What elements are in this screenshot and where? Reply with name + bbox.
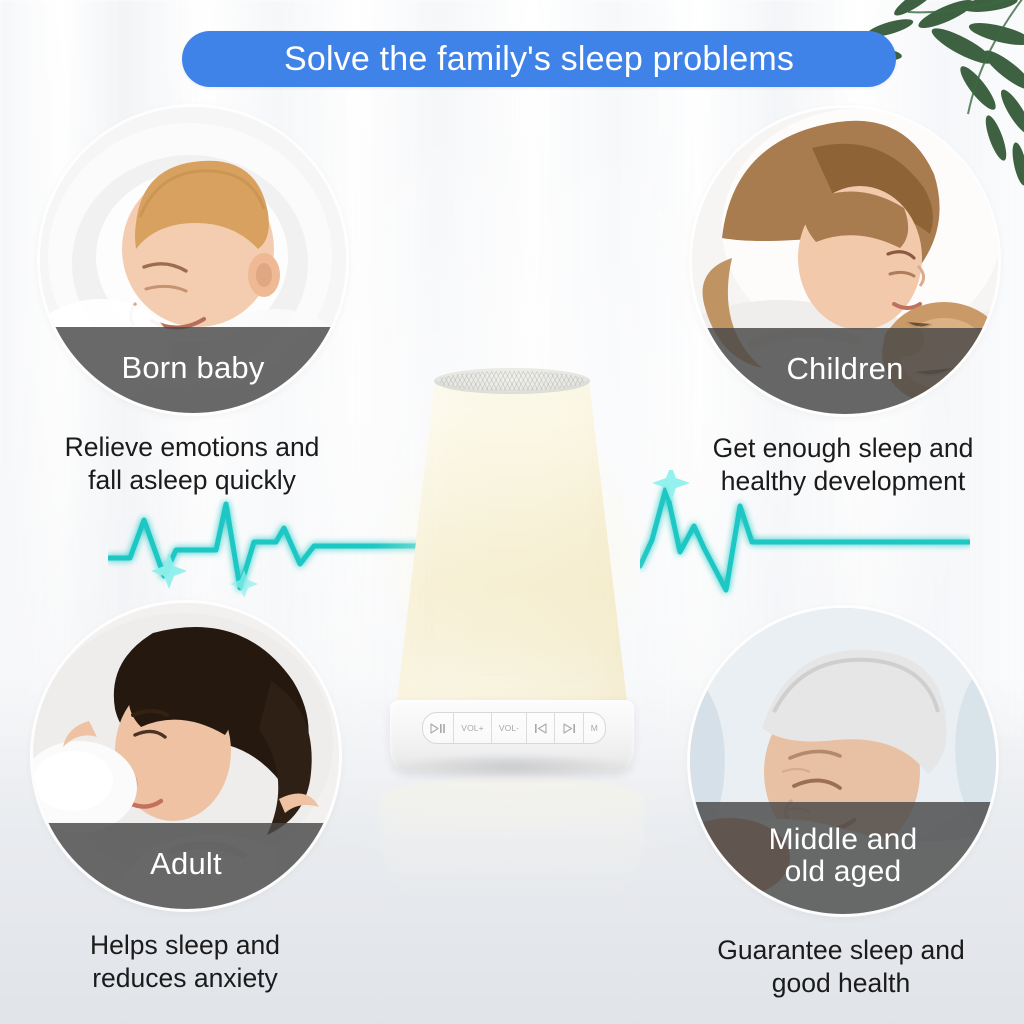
benefit-photo-born-baby: Born baby	[40, 107, 346, 413]
benefit-photo-children: Children	[692, 108, 998, 414]
speaker-grille-icon	[438, 371, 586, 391]
benefit-label-children: Children	[692, 328, 998, 414]
benefit-caption-born-baby: Relieve emotions and fall asleep quickly	[26, 431, 358, 497]
benefit-caption-middle-old-aged: Guarantee sleep and good health	[676, 934, 1006, 1000]
benefit-adult: Adult Helps sleep and reduces anxiety	[33, 603, 339, 995]
volume-down-button[interactable]: VOL-	[492, 713, 527, 743]
product-infographic: Solve the family's sleep problems	[0, 0, 1024, 1024]
benefit-label-adult: Adult	[33, 823, 339, 909]
benefit-children: Children Get enough sleep and healthy de…	[692, 108, 998, 498]
benefit-caption-children: Get enough sleep and healthy development	[678, 432, 1008, 498]
mode-button[interactable]: M	[584, 713, 605, 743]
product-reflection	[380, 778, 644, 928]
benefit-photo-middle-old-aged: Middle and old aged	[690, 608, 996, 914]
benefit-label-born-baby: Born baby	[40, 327, 346, 413]
benefit-born-baby: Born baby Relieve emotions and fall asle…	[40, 107, 346, 497]
benefit-caption-adult: Helps sleep and reduces anxiety	[19, 929, 351, 995]
headline-banner: Solve the family's sleep problems	[182, 31, 896, 87]
next-track-button[interactable]	[555, 713, 583, 743]
play-pause-icon	[430, 723, 446, 734]
lamp-shade-sheen	[396, 378, 628, 710]
benefit-middle-old-aged: Middle and old aged Guarantee sleep and …	[690, 608, 996, 1000]
previous-track-icon	[534, 723, 547, 734]
control-button-strip: VOL+ VOL- M	[422, 712, 606, 744]
benefit-photo-adult: Adult	[33, 603, 339, 909]
benefit-label-middle-old-aged: Middle and old aged	[690, 802, 996, 914]
volume-up-button[interactable]: VOL+	[454, 713, 492, 743]
next-track-icon	[563, 723, 576, 734]
headline-text: Solve the family's sleep problems	[284, 42, 794, 76]
play-pause-button[interactable]	[423, 713, 454, 743]
product-sound-machine: VOL+ VOL- M	[372, 360, 652, 780]
previous-track-button[interactable]	[527, 713, 555, 743]
